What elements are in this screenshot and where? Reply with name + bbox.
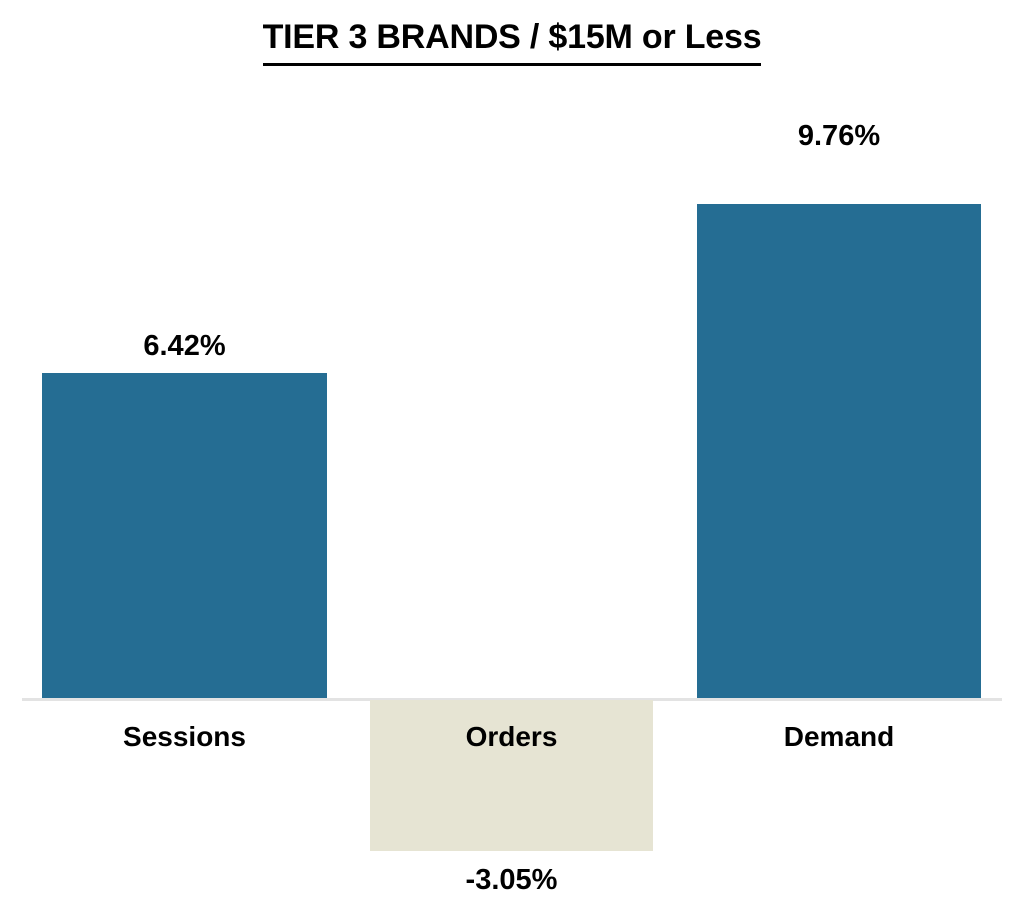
value-label-demand: 9.76% bbox=[697, 120, 981, 153]
category-label-orders: Orders bbox=[370, 721, 653, 753]
value-label-sessions: 6.42% bbox=[42, 330, 327, 363]
plot-area: 6.42% Sessions Orders -3.05% 9.76% Deman… bbox=[0, 0, 1024, 924]
category-label-demand: Demand bbox=[697, 721, 981, 753]
bar-demand[interactable] bbox=[697, 204, 981, 698]
bar-chart: TIER 3 BRANDS / $15M or Less 6.42% Sessi… bbox=[0, 0, 1024, 924]
category-label-sessions: Sessions bbox=[42, 721, 327, 753]
bar-group-sessions: 6.42% Sessions bbox=[42, 0, 327, 924]
bar-sessions[interactable] bbox=[42, 373, 327, 698]
bar-group-demand: 9.76% Demand bbox=[697, 0, 981, 924]
value-label-orders: -3.05% bbox=[370, 864, 653, 897]
bar-group-orders: Orders -3.05% bbox=[370, 0, 653, 924]
